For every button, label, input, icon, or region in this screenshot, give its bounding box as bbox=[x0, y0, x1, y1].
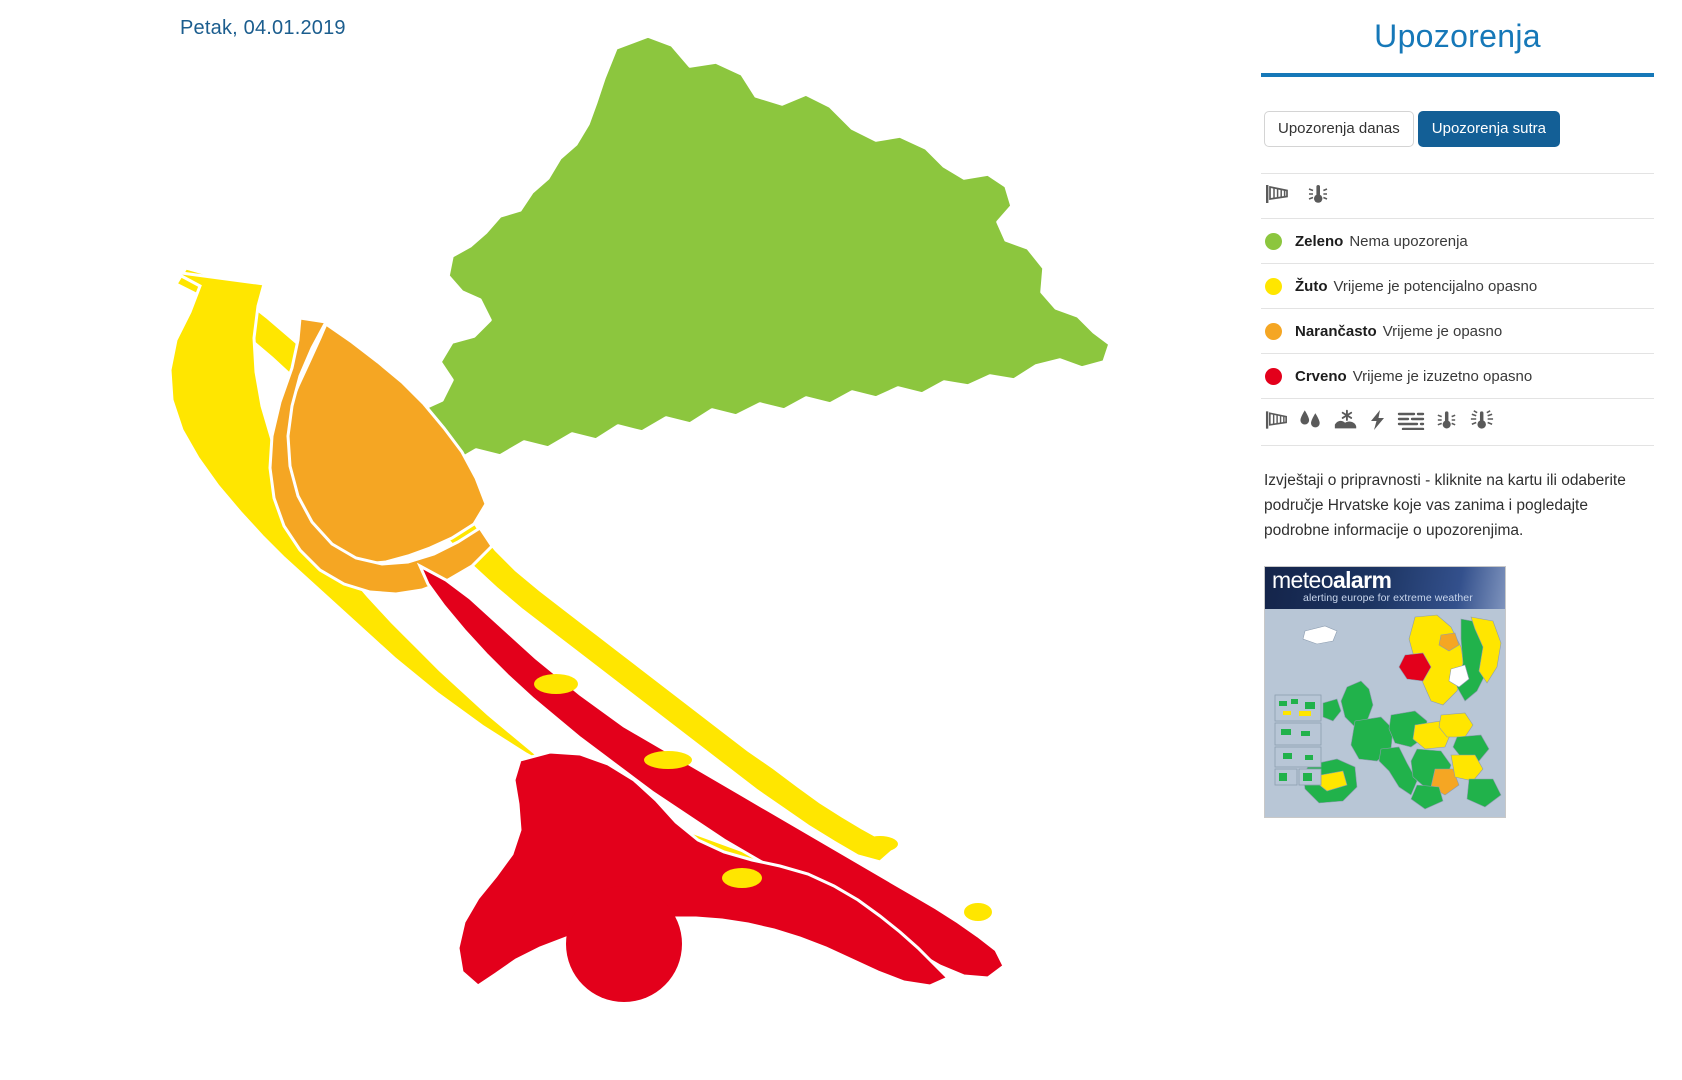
legend-desc-orange: Vrijeme je opasno bbox=[1383, 323, 1503, 340]
warnings-sidebar: Upozorenja Upozorenja danas Upozorenja s… bbox=[1255, 0, 1682, 1080]
legend-desc-yellow: Vrijeme je potencijalno opasno bbox=[1333, 278, 1537, 295]
meteoalarm-word-alarm: alarm bbox=[1333, 567, 1391, 593]
wind-icon[interactable] bbox=[1265, 184, 1291, 209]
map-region-red-island bbox=[566, 886, 682, 1002]
weather-warnings-page: Petak, 04.01.2019 bbox=[0, 0, 1682, 1080]
rain-icon[interactable] bbox=[1299, 409, 1324, 436]
legend-desc-green: Nema upozorenja bbox=[1349, 233, 1467, 250]
meteoalarm-header: meteoalarm alerting europe for extreme w… bbox=[1265, 567, 1505, 609]
divider bbox=[1261, 445, 1654, 446]
fog-icon[interactable] bbox=[1397, 410, 1425, 435]
meteoalarm-word-meteo: meteo bbox=[1272, 567, 1333, 593]
legend-label-green: Zeleno bbox=[1295, 233, 1343, 250]
page-title: Upozorenja bbox=[1261, 0, 1654, 55]
wind-icon[interactable] bbox=[1265, 410, 1290, 435]
legend-dot-orange bbox=[1265, 323, 1282, 340]
meteoalarm-tagline: alerting europe for extreme weather bbox=[1303, 592, 1473, 604]
croatia-warning-map[interactable] bbox=[0, 0, 1255, 1080]
legend-row-orange: Narančasto Vrijeme je opasno bbox=[1261, 309, 1654, 353]
meteoalarm-widget[interactable]: meteoalarm alerting europe for extreme w… bbox=[1264, 566, 1506, 818]
tab-warnings-tomorrow[interactable]: Upozorenja sutra bbox=[1418, 111, 1560, 147]
tab-warnings-today[interactable]: Upozorenja danas bbox=[1264, 111, 1414, 147]
snow-icon[interactable] bbox=[1333, 409, 1359, 436]
map-region-green[interactable] bbox=[400, 36, 1110, 480]
active-warning-icons bbox=[1261, 174, 1654, 218]
legend-label-yellow: Žuto bbox=[1295, 278, 1327, 295]
info-paragraph: Izvještaji o pripravnosti - kliknite na … bbox=[1261, 468, 1633, 543]
thunderstorm-icon[interactable] bbox=[1368, 409, 1388, 436]
map-panel: Petak, 04.01.2019 bbox=[0, 0, 1255, 1080]
legend-dot-yellow bbox=[1265, 278, 1282, 295]
legend-dot-green bbox=[1265, 233, 1282, 250]
low-temperature-icon[interactable] bbox=[1434, 409, 1459, 436]
low-temperature-icon[interactable] bbox=[1305, 183, 1331, 210]
legend-row-green: Zeleno Nema upozorenja bbox=[1261, 219, 1654, 263]
legend-desc-red: Vrijeme je izuzetno opasno bbox=[1353, 368, 1533, 385]
meteoalarm-europe-map[interactable] bbox=[1265, 609, 1505, 817]
warnings-tab-group: Upozorenja danas Upozorenja sutra bbox=[1261, 111, 1654, 147]
legend-row-yellow: Žuto Vrijeme je potencijalno opasno bbox=[1261, 264, 1654, 308]
legend-label-red: Crveno bbox=[1295, 368, 1347, 385]
high-temperature-icon[interactable] bbox=[1468, 409, 1495, 436]
title-divider bbox=[1261, 73, 1654, 77]
map-region-red[interactable] bbox=[420, 566, 1004, 1002]
legend-dot-red bbox=[1265, 368, 1282, 385]
meteoalarm-wordmark: meteoalarm bbox=[1272, 567, 1391, 594]
warning-type-icons bbox=[1261, 399, 1654, 445]
legend-label-orange: Narančasto bbox=[1295, 323, 1377, 340]
legend-row-red: Crveno Vrijeme je izuzetno opasno bbox=[1261, 354, 1654, 398]
